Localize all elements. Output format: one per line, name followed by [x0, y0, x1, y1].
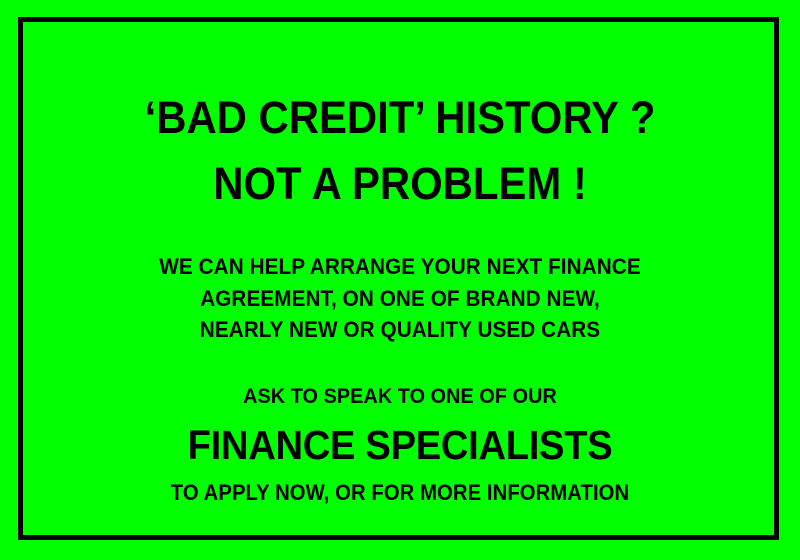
body-line-3: NEARLY NEW OR QUALITY USED CARS — [32, 319, 768, 342]
cta-lead-text: ASK TO SPEAK TO ONE OF OUR — [32, 386, 768, 408]
advert-poster: ‘BAD CREDIT’ HISTORY ? NOT A PROBLEM ! W… — [0, 0, 800, 560]
body-line-2: AGREEMENT, ON ONE OF BRAND NEW, — [32, 288, 768, 311]
cta-main-heading: FINANCE SPECIALISTS — [28, 425, 772, 466]
poster-content: ‘BAD CREDIT’ HISTORY ? NOT A PROBLEM ! W… — [0, 0, 800, 560]
headline-line-2: NOT A PROBLEM ! — [28, 161, 772, 206]
body-line-1: WE CAN HELP ARRANGE YOUR NEXT FINANCE — [32, 256, 768, 279]
cta-footer-text: TO APPLY NOW, OR FOR MORE INFORMATION — [32, 482, 768, 504]
headline-line-1: ‘BAD CREDIT’ HISTORY ? — [28, 95, 772, 140]
